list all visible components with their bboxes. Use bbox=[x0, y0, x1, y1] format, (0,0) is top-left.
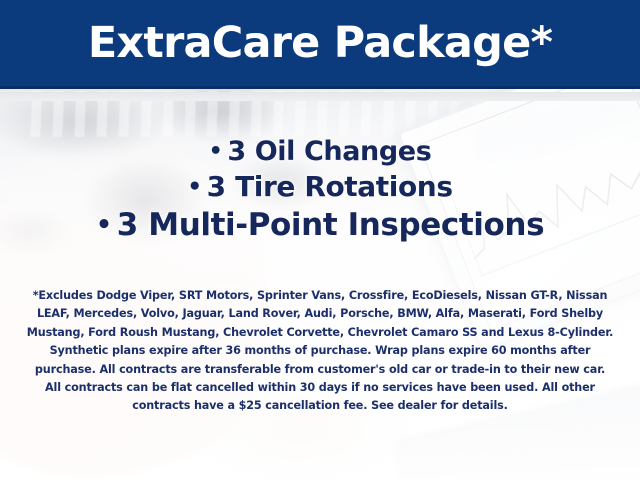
header-underline-strip bbox=[0, 92, 640, 101]
benefit-label: 3 Multi-Point Inspections bbox=[117, 207, 544, 243]
disclaimer-text: *Excludes Dodge Viper, SRT Motors, Sprin… bbox=[26, 287, 614, 416]
bullet-dot-icon: • bbox=[187, 174, 206, 200]
benefit-label: 3 Oil Changes bbox=[227, 136, 431, 167]
benefit-label: 3 Tire Rotations bbox=[207, 170, 453, 203]
header-band: ExtraCare Package* bbox=[0, 0, 640, 89]
list-item: •3 Tire Rotations bbox=[0, 169, 640, 205]
benefits-list: •3 Oil Changes •3 Tire Rotations •3 Mult… bbox=[0, 134, 640, 245]
page-title: ExtraCare Package* bbox=[88, 22, 552, 67]
bullet-dot-icon: • bbox=[96, 209, 117, 239]
list-item: •3 Multi-Point Inspections bbox=[0, 205, 640, 245]
extracare-promo-card: ExtraCare Package* •3 Oil Changes •3 Tir… bbox=[0, 0, 640, 480]
bullet-dot-icon: • bbox=[209, 138, 228, 164]
list-item: •3 Oil Changes bbox=[0, 134, 640, 169]
